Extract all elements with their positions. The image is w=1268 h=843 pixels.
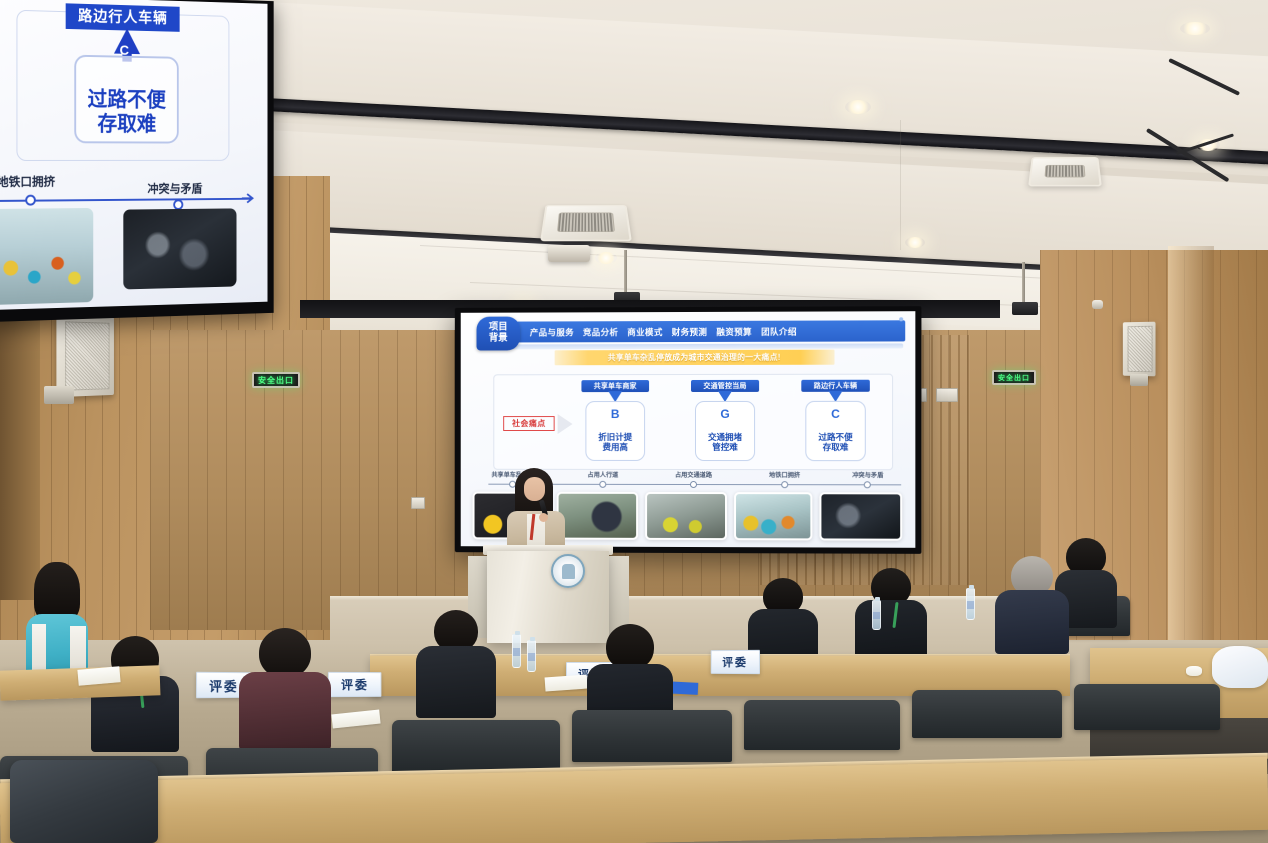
ceiling-projector — [548, 245, 590, 262]
slide-timeline-node-3 — [690, 481, 697, 488]
exit-sign-right: 安全出口 — [992, 370, 1036, 385]
crumpled-tissue — [1186, 666, 1202, 676]
water-bottle — [966, 588, 975, 620]
pain-point-arrow-icon — [558, 414, 573, 434]
pain-column-1-card: B 折旧计提 费用高 — [585, 401, 645, 461]
slide-nav-underline — [490, 343, 903, 349]
wall-speaker-left — [56, 315, 114, 397]
person-torso — [855, 600, 927, 662]
pain-column-2-glyph: G — [718, 407, 732, 421]
nav-item-0: 产品与服务 — [530, 326, 574, 338]
wall-corner-highlight — [1168, 246, 1214, 676]
nav-item-4: 融资预算 — [716, 325, 752, 337]
pain-column-2: 交通管控当局 G 交通拥堵 管控难 — [691, 380, 759, 392]
backpack — [10, 760, 158, 843]
pain-column-3-line2: 存取难 — [823, 442, 849, 453]
speaker-bracket-right — [1130, 374, 1148, 386]
presenter-person — [505, 468, 567, 556]
bottle-label — [513, 648, 520, 656]
seat — [1074, 684, 1220, 730]
audience-person — [424, 610, 488, 710]
ceiling-ac-unit — [540, 205, 632, 241]
ceiling-camera — [1092, 300, 1103, 309]
person-head — [259, 628, 311, 678]
pain-column-2-line1: 交通拥堵 — [708, 432, 742, 443]
ceiling-downlight — [595, 252, 617, 264]
audience-person — [1000, 556, 1064, 648]
left-slide-photo-subway-bikes — [0, 208, 93, 305]
exit-sign-left-text: 安全出口 — [258, 375, 294, 386]
left-slide-timeline-axis — [0, 198, 250, 202]
exit-sign-right-text: 安全出口 — [998, 373, 1030, 383]
slide-nav-bar: 产品与服务 竞品分析 商业模式 财务预测 融资预算 团队介绍 — [488, 320, 905, 342]
ceiling-ac-unit — [1028, 157, 1102, 186]
slide-timeline-label-2: 占用人行道 — [588, 470, 619, 479]
podium — [487, 551, 609, 643]
podium-crest-inner-shape — [562, 564, 575, 579]
wall-control-plate — [411, 497, 425, 509]
pain-column-1-line2: 费用高 — [603, 442, 628, 453]
seat — [912, 690, 1062, 738]
nav-item-2: 商业模式 — [627, 326, 662, 338]
nav-item-5: 团队介绍 — [761, 325, 797, 337]
slide-headline-banner: 共享单车杂乱停放成为城市交通治理的一大痛点! — [555, 350, 835, 366]
slide-timeline-label-5: 冲突与矛盾 — [852, 470, 883, 479]
projector-body — [1012, 302, 1038, 315]
podium-crest-emblem — [551, 554, 585, 588]
slide-timeline-node-4 — [781, 481, 788, 488]
ceiling-downlight — [905, 237, 925, 248]
student-hair — [34, 562, 80, 622]
pain-column-1-tag-text: 共享单车商家 — [594, 381, 637, 391]
judge-nameplate: 评委 — [711, 650, 760, 674]
pain-column-2-line2: 管控难 — [712, 442, 738, 453]
judge-nameplate: 评委 — [328, 672, 381, 697]
slide-photo-night-pile — [819, 492, 902, 540]
presenter-face — [524, 477, 545, 501]
slide-photo-street-blocked — [645, 492, 727, 540]
nav-item-3: 财务预测 — [672, 325, 708, 337]
pain-point-label: 社会痛点 — [512, 418, 546, 429]
audience-person — [752, 578, 814, 664]
audience-person — [248, 628, 322, 740]
projector-mount-rod — [1022, 262, 1025, 304]
bottle-label — [873, 612, 880, 619]
left-slide-photo-night-scene — [123, 208, 236, 289]
pain-column-1: 共享单车商家 B 折旧计提 费用高 — [581, 380, 649, 392]
nav-item-1: 竞品分析 — [583, 326, 618, 338]
student-white-sleeve — [32, 624, 46, 674]
plastic-bag — [1212, 646, 1268, 688]
slide-timeline-label-3: 占用交通道路 — [675, 470, 712, 479]
pain-column-2-tag-text: 交通管控当局 — [703, 381, 746, 391]
wall-control-plate — [936, 388, 958, 402]
judge-nameplate-text: 评委 — [722, 654, 748, 670]
pain-column-2-card: G 交通拥堵 管控难 — [695, 401, 755, 461]
lecture-hall-photo: 安全出口 安全出口 路边行人车辆 C 过路不便 存取难 地铁口拥挤 — [0, 0, 1268, 843]
paper-sheet — [545, 675, 588, 692]
slide-timeline-node-5 — [864, 481, 871, 488]
water-bottle — [527, 640, 536, 672]
ceiling-downlight — [1180, 22, 1210, 35]
wall-speaker-right — [1123, 322, 1156, 377]
pain-column-3-tag-text: 路边行人车辆 — [814, 381, 858, 391]
pain-column-3-card: C 过路不便 存取难 — [805, 401, 865, 461]
left-slide-axis-arrow-icon — [242, 192, 254, 204]
audience-person — [860, 568, 922, 658]
left-slide-timeline-label-2: 冲突与矛盾 — [147, 180, 202, 197]
nav-active-line2: 背景 — [489, 334, 508, 345]
person-torso — [416, 646, 496, 718]
slide-photo-subway-entrance — [734, 492, 812, 540]
ceiling-downlight — [845, 100, 871, 114]
left-slide-card-line1: 过路不便 — [74, 88, 178, 113]
bottle-label — [967, 601, 974, 609]
slide-photo-tv-interview — [557, 492, 638, 540]
slide-timeline-label-4: 地铁口拥挤 — [769, 470, 800, 479]
seat — [392, 720, 560, 774]
slide-headline-text: 共享单车杂乱停放成为城市交通治理的一大痛点! — [608, 352, 781, 363]
pain-point-tag: 社会痛点 — [503, 416, 554, 431]
presenter-hand — [539, 513, 548, 522]
exit-sign-left: 安全出口 — [252, 372, 300, 388]
judge-nameplate-text: 评委 — [209, 675, 238, 694]
slide-timeline-node-2 — [599, 480, 606, 487]
projection-screen-left: 路边行人车辆 C 过路不便 存取难 地铁口拥挤 冲突与矛盾 — [0, 0, 274, 322]
water-bottle — [512, 634, 521, 668]
projector-mount-rod — [624, 250, 627, 294]
speaker-bracket-left — [44, 386, 74, 404]
left-slide-card-line2: 存取难 — [74, 113, 178, 138]
pain-column-3-line1: 过路不便 — [818, 432, 852, 443]
seat — [572, 710, 732, 762]
pain-column-1-glyph: B — [608, 407, 622, 421]
nav-item-active-project-background: 项目 背景 — [477, 317, 520, 351]
bottle-label — [528, 653, 535, 661]
left-slide-surface: 路边行人车辆 C 过路不便 存取难 地铁口拥挤 冲突与矛盾 — [0, 0, 268, 310]
ceiling-tile-seam — [900, 120, 901, 250]
person-torso-maroon — [239, 672, 331, 750]
left-slide-timeline-node — [25, 195, 36, 206]
wall-left-shadow — [0, 300, 40, 600]
person-torso — [995, 590, 1069, 654]
pain-column-3: 路边行人车辆 C 过路不便 存取难 — [801, 380, 870, 392]
seat — [744, 700, 900, 750]
pain-column-1-line1: 折旧计提 — [598, 432, 632, 443]
judge-nameplate-text: 评委 — [341, 676, 369, 693]
water-bottle — [872, 600, 881, 630]
left-slide-timeline-label-1: 地铁口拥挤 — [0, 173, 55, 190]
pain-column-3-glyph: C — [828, 407, 842, 421]
student-white-sleeve — [70, 626, 86, 672]
